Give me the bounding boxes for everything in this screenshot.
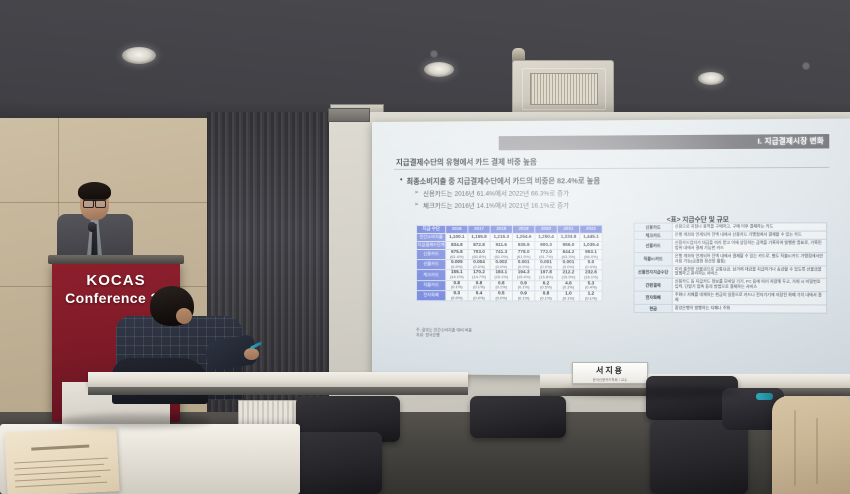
table-cell-percent: (15.4%) [513, 276, 534, 280]
bullet-text: 신용카드는 2016년 61.4%에서 2022년 66.3%로 증가 [423, 188, 569, 198]
slide-content: I. 지급결제시장 변화 지급결제수단의 유형에서 카드 결제 비중 높음 • … [394, 128, 829, 370]
table-cell-value: 0.3(0.0%) [446, 290, 468, 300]
table-cell-percent: (0.1%) [513, 296, 534, 300]
glossary-term: 직불IC카드 [634, 252, 672, 265]
table-cell-value: 0.8(0.1%) [446, 280, 468, 290]
table-col-header-year: 2016 [446, 225, 468, 233]
nameplate-subtitle: 한국신용카드학회 / 교수 [593, 377, 628, 382]
table-cell-value: 170.2(14.7%) [468, 270, 490, 280]
downlight-icon [122, 47, 156, 64]
table-cell-percent: (0.1%) [558, 296, 579, 300]
table-row: 선불카드0.005(0.0%)0.004(0.0%)0.002(0.0%)0.0… [417, 260, 603, 270]
air-conditioner-icon [512, 60, 614, 115]
table-cell-value: 0.001(0.0%) [512, 260, 534, 270]
table-cell-value: 155.1(14.1%) [446, 270, 468, 280]
sprinkler-icon [802, 62, 810, 70]
table-footnotes: 주: 괄호는 민간소비지출 대비 비중 자료: 한국은행 [416, 327, 472, 338]
table-cell-percent: (0.0%) [491, 296, 512, 300]
table-cell-percent: (0.1%) [535, 296, 556, 300]
table-cell-value: 1,250.4 [535, 233, 557, 241]
glossary-row: 전자화폐주화나 지폐를 대체하는 현금의 일종으로 카드나 전자기기에 저장된 … [634, 291, 827, 305]
table-cell-value: 0.005(0.0%) [446, 260, 468, 270]
glossary-row: 직불IC카드은행 계좌와 연계되어 잔액 내에서 결제할 수 있는 카드로, 별… [634, 252, 827, 265]
table-row-label: 민간소비지출 [417, 233, 446, 241]
table-cell-value: 1,216.3 [490, 233, 512, 241]
slide-section-tab: I. 지급결제시장 변화 [499, 134, 829, 150]
bullet-text: 최종소비지출 중 지급결제수단에서 카드의 비중은 82.4%로 높음 [406, 176, 600, 187]
podium-banner-line1: KOCAS [52, 272, 180, 289]
desk-middle-row [88, 372, 468, 387]
slide-bullet-sub-1: ➢ 신용카드는 2016년 61.4%에서 2022년 66.3%로 증가 [414, 188, 569, 198]
slide-section-label: I. 지급결제시장 변화 [758, 136, 830, 147]
table-cell-value: 183.1(15.1%) [490, 270, 512, 280]
sprinkler-icon [430, 50, 438, 58]
glossary-description: 미리 충전한 선불금으로 교통요금, 상거래 대금을 지급하거나 송금할 수 있… [672, 265, 826, 278]
table-col-header-year: 2017 [468, 225, 490, 233]
glossary-description: 은행 계좌와 연계되어 잔액 내에서 결제할 수 있는 카드로, 별도 직불IC… [672, 252, 826, 265]
table-cell-value: 0.8(0.1%) [490, 280, 512, 290]
table-col-header-year: 2018 [490, 225, 512, 233]
table-cell-value: 0.5(0.0%) [490, 290, 512, 300]
table-cell-value: 1,445.1 [580, 233, 603, 241]
table-col-header-year: 2021 [557, 225, 579, 233]
table-row: 전자화폐0.3(0.0%)0.4(0.0%)0.5(0.0%)0.9(0.1%)… [417, 290, 603, 301]
payment-means-table: 지급 수단2016201720182019202020212022 민간소비지출… [416, 225, 603, 302]
screen-mount-rail [328, 108, 370, 122]
table-header-row: 지급 수단2016201720182019202020212022 [417, 225, 603, 233]
draped-coat [772, 396, 850, 494]
table-cell-value: 0.9(0.1%) [512, 291, 534, 301]
arrow-marker: ➢ [414, 201, 419, 208]
table-cell-value: 4.6(0.3%) [557, 280, 579, 290]
attendee-head [150, 286, 194, 326]
table-cell-percent: (0.0%) [468, 296, 489, 300]
table-cell-percent: (15.1%) [491, 275, 512, 279]
nameplate: 서지용 한국신용카드학회 / 교수 [572, 362, 648, 384]
table-col-header-year: 2019 [512, 225, 534, 233]
table-cell-value: 0.8(0.1%) [535, 291, 557, 301]
glossary-description: 은행 계좌와 연계되어 잔액 내에서 신용카드 가맹점에서 결제할 수 있는 카… [672, 231, 826, 239]
table-cell-value: 703.0(60.8%) [468, 250, 490, 260]
table-cell-percent: (15.8%) [535, 276, 556, 280]
table-cell-value: 197.8(15.8%) [535, 270, 557, 280]
table-cell-value: 1,100.1 [446, 233, 468, 241]
glasses-icon [83, 199, 106, 206]
arrow-marker: ➢ [414, 189, 419, 196]
glossary-description: 주화나 지폐를 대체하는 현금의 일종으로 카드나 전자기기에 저장된 화폐 가… [672, 291, 826, 304]
bullet-text: 체크카드는 2016년 14.1%에서 2021년 16.1%로 증가 [423, 200, 569, 209]
glossary-row: 신용카드신용으로 지참나 용역을 구매하고, 구매 이후 결제하는 카드 [634, 223, 827, 231]
chair [470, 396, 566, 438]
downlight-icon [424, 62, 454, 77]
table-row-label: 체크카드 [417, 270, 446, 280]
table-cell-value: 1,155.8 [468, 233, 490, 241]
nameplate-name: 서지용 [596, 365, 624, 376]
glossary-term: 신용카드 [634, 223, 672, 231]
glossary-description: 신용카드 등 지급카드 정보를 모바일 기기, PC 등에 미리 저장해 두고,… [672, 278, 826, 291]
table-cell-value: 0.001(0.0%) [535, 260, 557, 270]
chair [650, 420, 748, 494]
table-cell-value: 1.2(0.1%) [580, 291, 603, 301]
table-cell-value: 212.2(15.9%) [557, 270, 579, 280]
table-cell-value: 953.1(66.0%) [580, 250, 603, 260]
table-cell-value: 1,264.6 [512, 233, 534, 241]
handout-heading [31, 445, 89, 451]
table-cell-value: 0.8(0.1%) [468, 280, 490, 290]
table-cell-value: 0.0(0.0%) [580, 260, 603, 270]
table-cell-percent: (14.1%) [446, 275, 467, 279]
table-cell-percent: (14.7%) [468, 275, 489, 279]
speaker-head [80, 186, 109, 220]
ac-grille [530, 73, 598, 105]
conference-room-photo: I. 지급결제시장 변화 지급결제수단의 유형에서 카드 결제 비중 높음 • … [0, 0, 850, 494]
glossary-table: 신용카드신용으로 지참나 용역을 구매하고, 구매 이후 결제하는 카드체크카드… [634, 222, 828, 313]
ceiling [0, 0, 850, 128]
printed-handout [4, 427, 119, 494]
podium-top [48, 255, 184, 264]
glossary-description: 신용으로 지참나 용역을 구매하고, 구매 이후 결제하는 카드 [672, 223, 826, 231]
glossary-row: 현금중앙은행이 발행하는 지폐나 주화 [634, 304, 827, 313]
table-col-header-year: 2020 [535, 225, 557, 233]
table-cell-value: 0.004(0.0%) [468, 260, 490, 270]
table-col-header-label: 지급 수단 [417, 225, 446, 233]
slide-bullet-primary: • 최종소비지출 중 지급결제수단에서 카드의 비중은 82.4%로 높음 [400, 176, 600, 187]
slide-bullet-sub-2: ➢ 체크카드는 2016년 14.1%에서 2021년 16.1%로 증가 [414, 200, 569, 209]
table-row-label: 선불카드 [417, 260, 446, 270]
table-row-label: 지급결제수단계 [417, 241, 446, 249]
table-cell-value: 6.2(0.5%) [535, 280, 557, 290]
table-cell-value: 844.2(63.3%) [557, 250, 579, 260]
glossary-row: 체크카드은행 계좌와 연계되어 잔액 내에서 신용카드 가맹점에서 결제할 수 … [634, 231, 827, 239]
glossary-row: 선불카드신용카드업자가 대금을 미리 받고 이에 상당하는 금액을 기록하여 발… [634, 239, 827, 252]
table-cell-value: 1,333.8 [557, 233, 579, 241]
glossary-term: 선불카드 [634, 239, 672, 252]
bullet-marker: • [400, 177, 402, 185]
table-row: 신용카드675.8(61.4%)703.0(60.8%)741.3(61.0%)… [417, 250, 603, 260]
table-cell-value: 675.8(61.4%) [446, 250, 468, 260]
glossary-term: 선불전자지급수단 [634, 265, 672, 278]
table-col-header-year: 2022 [580, 225, 603, 233]
table-cell-value: 194.3(15.4%) [512, 270, 534, 280]
table-cell-value: 772.0(61.7%) [535, 250, 557, 260]
microphone-icon [88, 222, 96, 232]
glossary-description: 신용카드업자가 대금을 미리 받고 이에 상당하는 금액을 기록하여 발행한 증… [672, 239, 826, 252]
glossary-term: 체크카드 [634, 231, 672, 239]
projection-screen: I. 지급결제시장 변화 지급결제수단의 유형에서 카드 결제 비중 높음 • … [372, 118, 850, 377]
table-cell-value: 0.9(0.1%) [512, 280, 534, 290]
table-cell-percent: (0.0%) [446, 296, 467, 300]
table-cell-percent: (16.1%) [580, 276, 602, 280]
table-row-label: 전자화폐 [417, 290, 446, 300]
table-note: 자료: 한국은행 [416, 332, 472, 338]
table-cell-value: 232.6(16.1%) [580, 270, 603, 280]
table-cell-percent: (0.1%) [580, 296, 602, 300]
table-row: 지급결제수단계834.8872.8911.6935.9900.3956.01,0… [417, 241, 603, 249]
attendee-hand [244, 348, 259, 360]
table-cell-percent: (15.9%) [558, 276, 579, 280]
table-row: 민간소비지출1,100.11,155.81,216.31,264.61,250.… [417, 233, 603, 241]
table-row-label: 신용카드 [417, 250, 446, 260]
desk-middle-edge [88, 387, 468, 395]
table-row: 체크카드155.1(14.1%)170.2(14.7%)183.1(15.1%)… [417, 270, 603, 281]
glossary-term: 현금 [634, 304, 672, 312]
table-cell-value: 0.4(0.0%) [468, 290, 490, 300]
table-row-label: 직불카드 [417, 280, 446, 290]
table-cell-value: 0.001(0.0%) [557, 260, 579, 270]
table-row: 직불카드0.8(0.1%)0.8(0.1%)0.8(0.1%)0.9(0.1%)… [417, 280, 603, 291]
table-cell-value: 778.0(61.5%) [512, 250, 534, 260]
table-cell-value: 741.3(61.0%) [490, 250, 512, 260]
glossary-row: 간편결제신용카드 등 지급카드 정보를 모바일 기기, PC 등에 미리 저장해… [634, 278, 827, 291]
table-cell-value: 1.0(0.1%) [557, 291, 579, 301]
slide-subtitle: 지급결제수단의 유형에서 카드 결제 비중 높음 [396, 155, 827, 168]
glossary-term: 전자화폐 [634, 291, 672, 304]
table-cell-value: 5.3(0.4%) [580, 280, 603, 290]
glossary-term: 간편결제 [634, 278, 672, 291]
glossary-description: 중앙은행이 발행하는 지폐나 주화 [672, 304, 826, 313]
downlight-icon [698, 72, 724, 85]
glossary-row: 선불전자지급수단미리 충전한 선불금으로 교통요금, 상거래 대금을 지급하거나… [634, 265, 827, 278]
backpack-accent [756, 393, 773, 400]
table-cell-value: 0.002(0.0%) [490, 260, 512, 270]
